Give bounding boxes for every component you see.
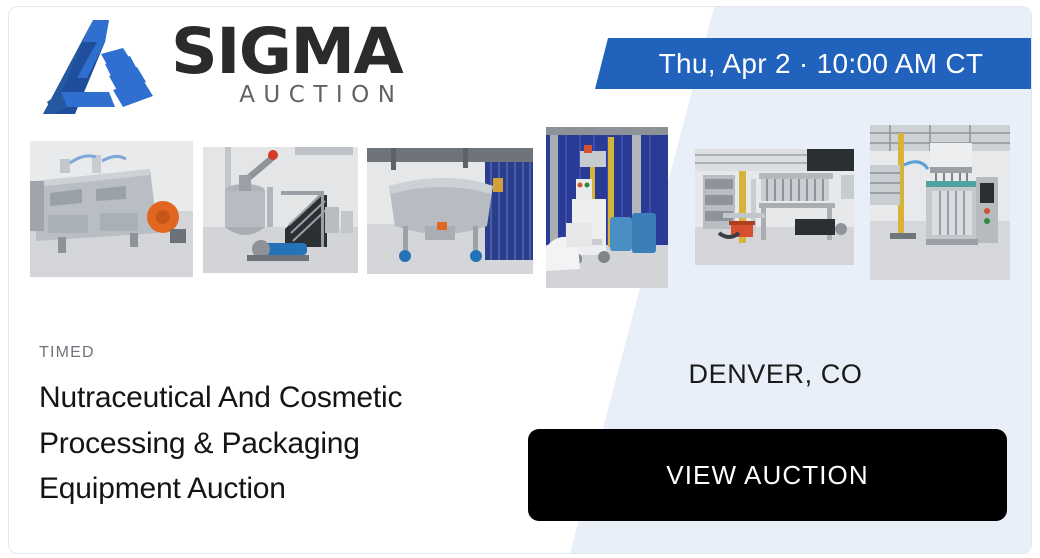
- thumbnail-inline-filler[interactable]: [695, 149, 854, 265]
- auction-location: DENVER, CO: [536, 359, 1015, 390]
- thumbnail-inline-filler-image: [695, 149, 854, 265]
- thumbnail-tunnel-washer-image: [30, 141, 193, 277]
- listing-type-label: TIMED: [39, 344, 95, 362]
- auction-title: Nutraceutical And Cosmetic Processing & …: [39, 375, 459, 512]
- thumbnail-drum-filler-image: [546, 127, 668, 288]
- logo-wordmark: SIGMA: [171, 23, 402, 81]
- thumbnail-drum-filler[interactable]: [546, 127, 668, 288]
- view-auction-button[interactable]: VIEW AUCTION: [528, 429, 1007, 521]
- thumbnail-vffs-bagger[interactable]: [870, 125, 1010, 280]
- auction-listing-card: SIGMA AUCTION Thu, Apr 2 · 10:00 AM CT: [8, 6, 1032, 554]
- sigma-auction-logo[interactable]: SIGMA AUCTION: [31, 15, 481, 119]
- auction-date-time: Thu, Apr 2 · 10:00 AM CT: [645, 48, 984, 80]
- thumbnail-vffs-bagger-image: [870, 125, 1010, 280]
- thumbnail-mixing-vessel[interactable]: [203, 147, 358, 273]
- thumbnail-ribbon-blender-image: [367, 148, 533, 274]
- thumbnail-tunnel-washer[interactable]: [30, 141, 193, 277]
- auction-date-banner: Thu, Apr 2 · 10:00 AM CT: [595, 38, 1032, 89]
- thumbnail-mixing-vessel-image: [203, 147, 358, 273]
- thumbnail-ribbon-blender[interactable]: [367, 148, 533, 274]
- sigma-gavel-a-logo-icon: [31, 18, 161, 116]
